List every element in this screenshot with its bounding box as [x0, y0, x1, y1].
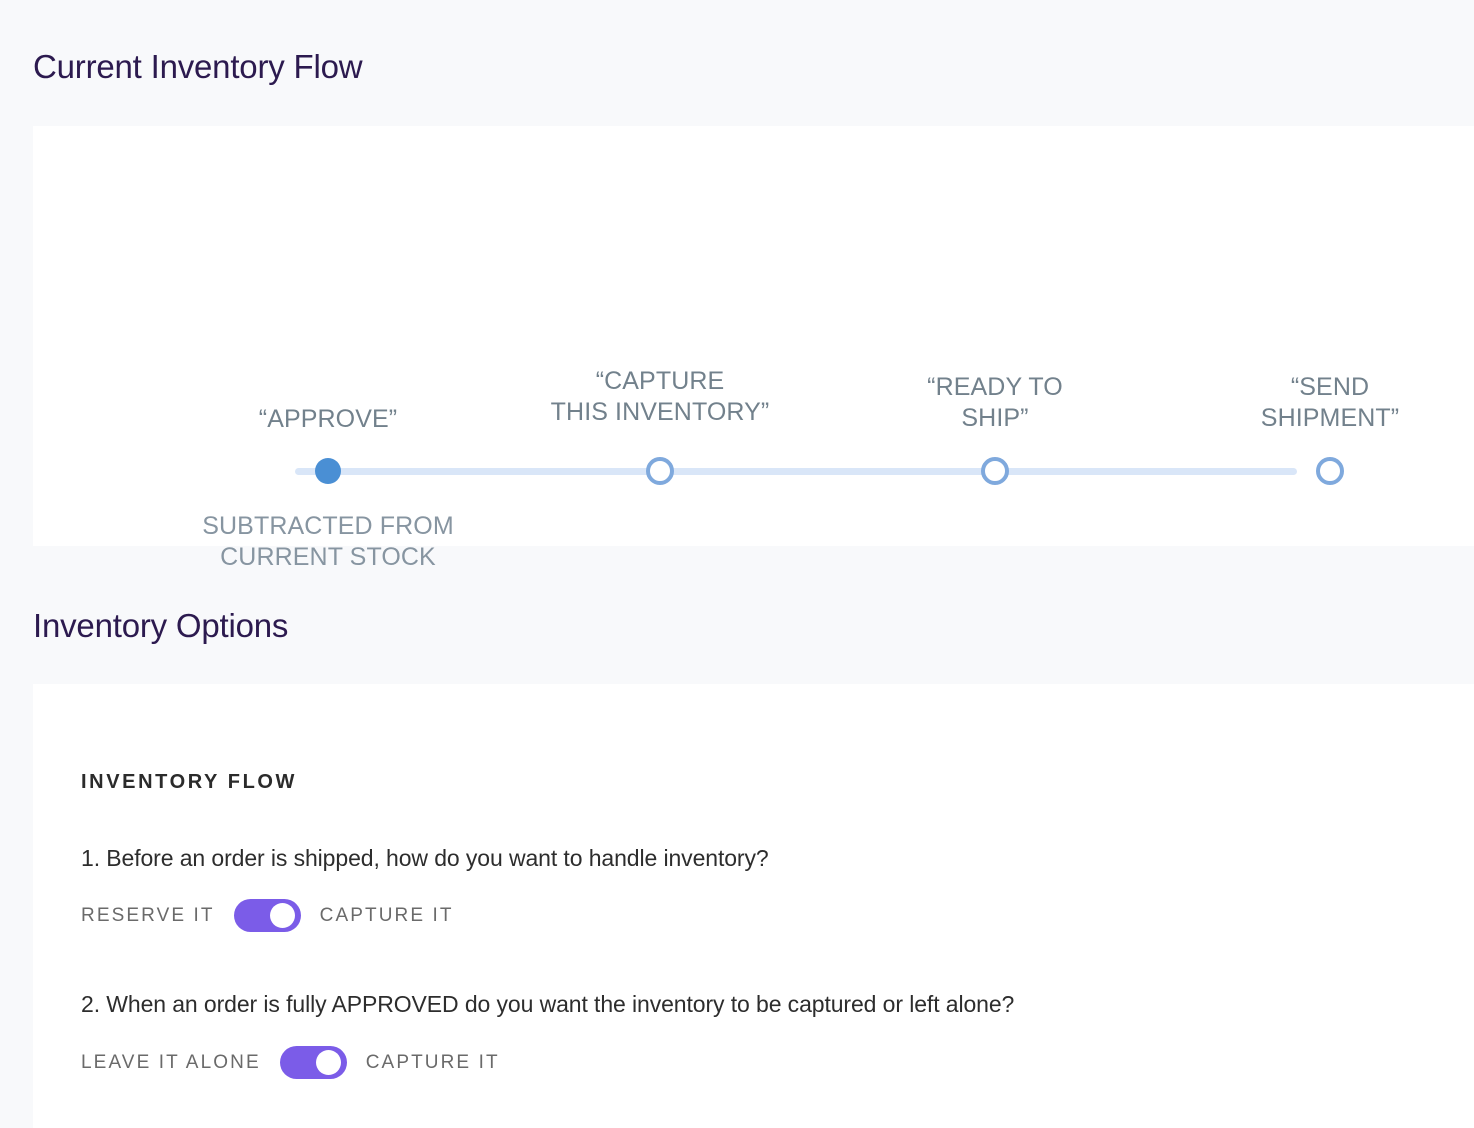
- question-2-toggle-knob: [316, 1050, 341, 1075]
- flow-node-capture-this-inventory[interactable]: [646, 457, 674, 485]
- question-1-text: 1. Before an order is shipped, how do yo…: [81, 844, 769, 873]
- page-title-current-inventory-flow: Current Inventory Flow: [33, 50, 362, 83]
- question-2-right-label: CAPTURE IT: [366, 1053, 500, 1072]
- question-1-right-label: CAPTURE IT: [320, 906, 454, 925]
- subheading-inventory-flow: INVENTORY FLOW: [81, 772, 297, 792]
- flow-node-ready-to-ship[interactable]: [981, 457, 1009, 485]
- question-2-toggle-row: LEAVE IT ALONE CAPTURE IT: [81, 1046, 500, 1079]
- flow-node-label-send-shipment: “SEND SHIPMENT”: [1261, 372, 1399, 433]
- question-1-toggle-knob: [270, 903, 295, 928]
- flow-progress-track: [295, 468, 1297, 475]
- flow-node-approve[interactable]: [315, 458, 341, 484]
- question-2-toggle[interactable]: [280, 1046, 347, 1079]
- inventory-flow-diagram: “APPROVE” SUBTRACTED FROM CURRENT STOCK …: [33, 126, 1474, 546]
- page-title-inventory-options: Inventory Options: [33, 609, 288, 642]
- flow-node-label-capture-this-inventory: “CAPTURE THIS INVENTORY”: [551, 366, 770, 427]
- question-2-left-label: LEAVE IT ALONE: [81, 1053, 261, 1072]
- question-1-left-label: RESERVE IT: [81, 906, 215, 925]
- question-1-toggle-row: RESERVE IT CAPTURE IT: [81, 899, 454, 932]
- question-2-text: 2. When an order is fully APPROVED do yo…: [81, 990, 1014, 1019]
- question-1-toggle[interactable]: [234, 899, 301, 932]
- flow-node-label-ready-to-ship: “READY TO SHIP”: [927, 372, 1063, 433]
- flow-node-label-approve: “APPROVE”: [259, 404, 397, 435]
- page-root: Current Inventory Flow “APPROVE” SUBTRAC…: [0, 0, 1474, 1128]
- flow-node-send-shipment[interactable]: [1316, 457, 1344, 485]
- flow-node-sublabel-approve: SUBTRACTED FROM CURRENT STOCK: [202, 511, 454, 572]
- inventory-flow-card: “APPROVE” SUBTRACTED FROM CURRENT STOCK …: [33, 126, 1474, 546]
